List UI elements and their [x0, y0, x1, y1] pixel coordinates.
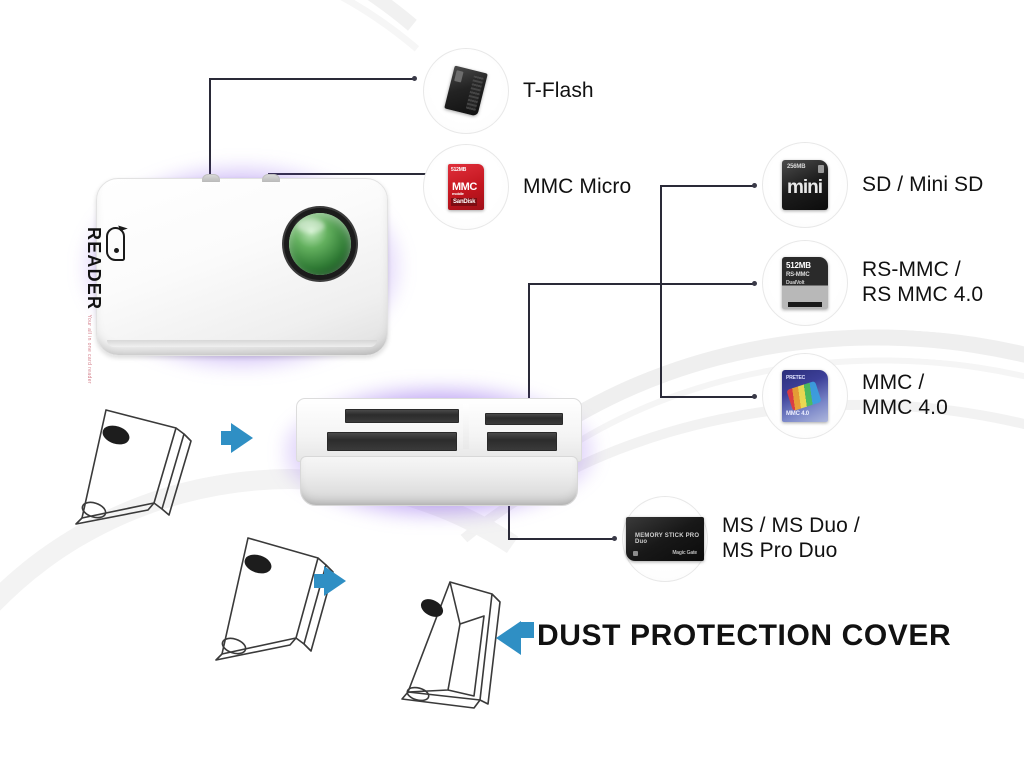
cover-step-2	[192, 530, 392, 685]
brand-word: READER	[84, 227, 104, 310]
arrow-shaft	[521, 622, 534, 638]
card-graphic	[786, 381, 821, 411]
mmc-40-card-icon: PRETEC MMC 4.0	[782, 370, 828, 422]
connector-trunk-right	[660, 185, 662, 398]
t-flash-card-icon	[444, 66, 488, 117]
card-highlight-circle: 256MB mini	[762, 142, 848, 228]
dust-protection-cover-title: DUST PROTECTION COVER	[537, 619, 951, 653]
sd-minisd-card-icon: 256MB mini	[782, 160, 828, 210]
connector-line-t-flash	[209, 78, 414, 80]
cover-step-1	[58, 398, 258, 543]
card-text-variant: DualVolt	[786, 280, 804, 286]
callout-label-ms-duo: MS / MS Duo / MS Pro Duo	[722, 514, 860, 564]
slot-divider	[463, 404, 469, 449]
arrow-right-icon	[324, 566, 346, 596]
card-text-capacity: 512MB	[786, 261, 811, 270]
arrow-left-icon	[496, 621, 521, 655]
callout-mmc-40: PRETEC MMC 4.0 MMC / MMC 4.0	[762, 353, 948, 439]
connector-line-rs-mmc	[528, 283, 755, 285]
callout-sd-minisd: 256MB mini SD / Mini SD	[762, 142, 983, 228]
device-bottom-lip	[107, 340, 377, 347]
device-nub	[202, 174, 220, 182]
device-front-face	[300, 456, 578, 506]
connector-endpoint-mmc-40	[752, 394, 757, 399]
dust-cover-line-art	[192, 530, 392, 680]
card-highlight-circle: 512MB MMC mobile SanDisk	[423, 144, 509, 230]
connector-endpoint-rs-mmc	[752, 281, 757, 286]
connector-line-mmc-40	[660, 396, 755, 398]
card-highlight-circle: MEMORY STICK PRO Duo Magic Gate	[622, 496, 708, 582]
card-slot[interactable]	[485, 413, 563, 425]
card-text-brand: MEMORY STICK PRO Duo	[635, 533, 704, 545]
rs-mmc-card-icon: 512MB RS-MMC DualVolt	[782, 257, 828, 309]
card-text-capacity: 256MB	[787, 164, 805, 170]
mmc-micro-card-icon: 512MB MMC mobile SanDisk	[448, 164, 484, 210]
connector-line-ms-duo	[508, 538, 615, 540]
card-text-brand: RS-MMC	[786, 272, 809, 278]
product-diagram-canvas: READER Your all in one card reader T-Fla…	[0, 0, 1024, 768]
slot-panel	[296, 398, 582, 462]
callout-label-rs-mmc: RS-MMC / RS MMC 4.0	[862, 258, 983, 308]
card-slot[interactable]	[327, 432, 457, 451]
dust-cover-line-art	[58, 398, 258, 538]
card-text-capacity: 512MB	[451, 167, 466, 173]
callout-rs-mmc: 512MB RS-MMC DualVolt RS-MMC / RS MMC 4.…	[762, 240, 983, 326]
card-text-maker: PRETEC	[786, 375, 805, 381]
card-text-variant: MMC 4.0	[786, 411, 809, 417]
callout-label-mmc-40: MMC / MMC 4.0	[862, 371, 948, 421]
arrow-right-icon	[231, 423, 253, 453]
callout-label-t-flash: T-Flash	[523, 79, 594, 104]
card-highlight-circle: PRETEC MMC 4.0	[762, 353, 848, 439]
reader-fish-icon	[106, 227, 125, 261]
callout-ms-duo: MEMORY STICK PRO Duo Magic Gate MS / MS …	[622, 496, 860, 582]
brand-subtitle: Your all in one card reader	[86, 315, 92, 384]
device-nub	[262, 174, 280, 182]
card-text-variant: mobile	[452, 191, 464, 196]
card-reader-device-open-slots	[296, 398, 582, 506]
connector-line-sd-minisd	[660, 185, 755, 187]
callout-label-sd-minisd: SD / Mini SD	[862, 173, 983, 198]
card-slot[interactable]	[487, 432, 557, 451]
device-shell: READER Your all in one card reader	[96, 178, 388, 356]
card-slot[interactable]	[345, 409, 459, 423]
globe-button-icon[interactable]	[289, 213, 351, 275]
card-text-variant: Magic Gate	[672, 550, 697, 556]
card-reader-device-closed: READER Your all in one card reader	[96, 178, 388, 356]
connector-endpoint-sd-minisd	[752, 183, 757, 188]
callout-label-mmc-micro: MMC Micro	[523, 175, 631, 200]
ms-pro-duo-card-icon: MEMORY STICK PRO Duo Magic Gate	[626, 517, 704, 561]
card-text-maker: SanDisk	[451, 198, 477, 206]
connector-endpoint-ms-duo	[612, 536, 617, 541]
card-text-brand: mini	[787, 177, 822, 199]
connector-endpoint-t-flash	[412, 76, 417, 81]
card-highlight-circle: 512MB RS-MMC DualVolt	[762, 240, 848, 326]
callout-mmc-micro: 512MB MMC mobile SanDisk MMC Micro	[423, 144, 631, 230]
callout-t-flash: T-Flash	[423, 48, 594, 134]
card-highlight-circle	[423, 48, 509, 134]
brand-logo: READER Your all in one card reader	[83, 227, 125, 384]
